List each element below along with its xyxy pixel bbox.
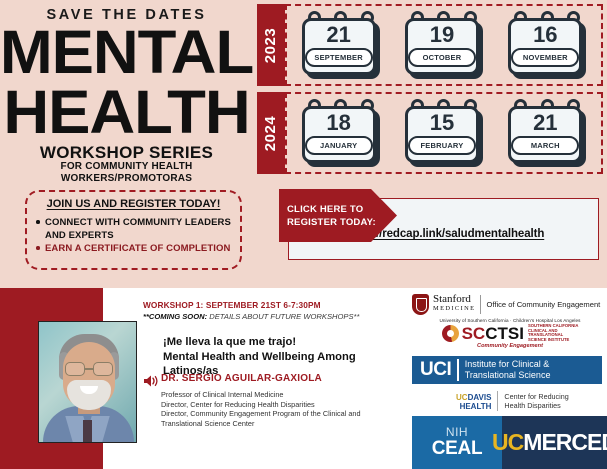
portrait-glasses-lens <box>65 362 85 376</box>
workshop-info-block: WORKSHOP 1: SEPTEMBER 21ST 6-7:30PM **CO… <box>143 300 408 379</box>
coming-soon-note: **COMING SOON: DETAILS ABOUT FUTURE WORK… <box>143 312 408 321</box>
poster-bottom-section: WORKSHOP 1: SEPTEMBER 21ST 6-7:30PM **CO… <box>0 288 607 469</box>
title-line-health: HEALTH <box>0 80 258 144</box>
calendar-day: 21 <box>533 110 557 135</box>
calendar-month: MARCH <box>511 136 579 155</box>
calendar-icon: 21 SEPTEMBER <box>298 9 384 81</box>
join-us-benefit-item: CONNECT WITH COMMUNITY LEADERS AND EXPER… <box>45 216 237 242</box>
logo-uci: UCI Institute for Clinical & Translation… <box>412 356 602 384</box>
calendar-panel: 2023 21 SEPTEMBER <box>253 0 607 180</box>
divider <box>480 295 481 314</box>
bullet-dot-icon <box>36 246 40 250</box>
calendar-icon: 18 JANUARY <box>298 97 384 169</box>
audience-line-2: WORKERS/PROMOTORAS <box>0 173 253 185</box>
workshop-schedule-line: WORKSHOP 1: SEPTEMBER 21ST 6-7:30PM <box>143 300 408 310</box>
join-us-benefit-text: EARN A CERTIFICATE OF COMPLETION <box>45 243 230 254</box>
calendar-month: OCTOBER <box>408 48 476 67</box>
coming-soon-rest: DETAILS ABOUT FUTURE WORKSHOPS** <box>207 312 359 321</box>
join-us-callout-box: JOIN US AND REGISTER TODAY! CONNECT WITH… <box>25 190 242 270</box>
register-area: https://redcap.link/saludmentalhealth CL… <box>253 182 607 288</box>
audience-line-1: FOR COMMUNITY HEALTH <box>0 161 253 173</box>
bullet-dot-icon <box>36 220 40 224</box>
title-line-mental: MENTAL <box>0 20 258 84</box>
scctsi-wordmark: SC CTSI SOUTHERN CALIFORNIA CLINICAL AND… <box>416 324 604 342</box>
calendar-body: 16 NOVEMBER <box>508 18 582 75</box>
ucdavis-uc: UC <box>456 393 468 402</box>
speaker-photo <box>38 321 137 443</box>
stanford-sub: MEDICINE <box>433 304 475 314</box>
year-tab-2024: 2024 <box>257 92 285 174</box>
ucdavis-center-name: Center for Reducing Health Disparities <box>504 392 568 410</box>
ucdavis-health: HEALTH <box>456 402 491 411</box>
calendar-year-row: 2024 18 JANUARY <box>253 92 607 174</box>
scctsi-swirl-icon <box>442 325 459 342</box>
portrait-glasses-bridge <box>85 368 93 370</box>
logo-area: Stanford MEDICINE Office of Community En… <box>408 288 607 469</box>
uci-line-2: Translational Science <box>465 370 551 381</box>
calendar-month: FEBRUARY <box>408 136 476 155</box>
calendar-date-grid: 21 SEPTEMBER 19 OCTOBER <box>289 6 599 84</box>
ceal-wordmark: CEAL <box>432 439 483 459</box>
stanford-name: Stanford <box>433 294 475 304</box>
divider <box>497 391 498 411</box>
ucdavis-davis: DAVIS <box>468 393 492 402</box>
calendar-icon: 15 FEBRUARY <box>401 97 487 169</box>
uci-line-1: Institute for Clinical & <box>465 359 551 370</box>
talk-title-line-1: ¡Me lleva la que me trajo! <box>163 335 408 350</box>
calendar-year-row: 2023 21 SEPTEMBER <box>253 4 607 86</box>
calendar-day: 15 <box>430 110 454 135</box>
join-us-benefit-item: EARN A CERTIFICATE OF COMPLETION <box>45 242 237 255</box>
year-tab-2023: 2023 <box>257 4 285 86</box>
ucmerced-uc: UC <box>492 429 523 456</box>
ucdavis-top-line: UCDAVIS <box>456 391 491 402</box>
calendar-body: 21 SEPTEMBER <box>302 18 376 75</box>
year-label: 2023 <box>263 27 280 62</box>
scctsi-ctsi: CTSI <box>485 325 524 342</box>
year-label: 2024 <box>263 115 280 150</box>
uci-institute-name: Institute for Clinical & Translational S… <box>465 359 551 381</box>
logo-ucmerced: UCMERCED <box>502 416 607 469</box>
calendar-body: 18 JANUARY <box>302 106 376 163</box>
register-cta-line-1: CLICK HERE TO <box>287 203 397 216</box>
divider <box>457 359 459 381</box>
poster-top-section: SAVE THE DATES MENTAL HEALTH WORKSHOP SE… <box>0 0 607 288</box>
calendar-month: SEPTEMBER <box>305 48 373 67</box>
calendar-body: 21 MARCH <box>508 106 582 163</box>
speaker-row: DR. SERGIO AGUILAR-GAXIOLA Professor of … <box>143 373 408 428</box>
ucdavis-line-1: Center for Reducing <box>504 392 568 401</box>
calendar-body: 15 FEBRUARY <box>405 106 479 163</box>
ucmerced-merced: MERCED <box>523 429 607 456</box>
speaker-name: DR. SERGIO AGUILAR-GAXIOLA <box>161 373 408 384</box>
calendar-icon: 21 MARCH <box>504 97 590 169</box>
audience-text: FOR COMMUNITY HEALTH WORKERS/PROMOTORAS <box>0 161 253 184</box>
calendar-body: 19 OCTOBER <box>405 18 479 75</box>
join-us-benefit-text: CONNECT WITH COMMUNITY LEADERS AND EXPER… <box>45 217 231 241</box>
talk-title: ¡Me lleva la que me trajo! Mental Health… <box>163 335 408 379</box>
stanford-shield-icon <box>412 294 429 315</box>
coming-soon-label: **COMING SOON: <box>143 312 207 321</box>
speaker-sound-icon <box>143 373 161 393</box>
speaker-block: DR. SERGIO AGUILAR-GAXIOLA Professor of … <box>161 373 408 428</box>
stanford-office-label: Office of Community Engagement <box>486 300 600 309</box>
calendar-icon: 19 OCTOBER <box>401 9 487 81</box>
register-cta-line-2: REGISTER TODAY: <box>287 216 397 229</box>
logo-scctsi: University of Southern California · Chil… <box>416 318 604 354</box>
stanford-wordmark: Stanford MEDICINE <box>433 294 475 314</box>
speaker-titles: Professor of Clinical Internal Medicine … <box>161 390 408 428</box>
calendar-day: 21 <box>326 22 350 47</box>
join-us-title: JOIN US AND REGISTER TODAY! <box>27 198 240 210</box>
ucdavis-wordmark: UCDAVIS HEALTH <box>456 391 491 411</box>
scctsi-tagline: Community Engagement <box>416 343 604 349</box>
calendar-day: 18 <box>326 110 350 135</box>
portrait-tie <box>83 420 92 442</box>
calendar-day: 19 <box>430 22 454 47</box>
calendar-month: NOVEMBER <box>511 48 579 67</box>
calendar-day: 16 <box>533 22 557 47</box>
subtitle-workshop-series: WORKSHOP SERIES <box>0 143 253 163</box>
calendar-date-grid: 18 JANUARY 15 FEBRUARY <box>289 94 599 172</box>
ucdavis-line-2: Health Disparities <box>504 401 568 410</box>
calendar-month: JANUARY <box>305 136 373 155</box>
logo-nih-ceal: NIH CEAL <box>412 416 502 469</box>
logo-stanford-medicine: Stanford MEDICINE Office of Community En… <box>412 292 604 316</box>
logo-ucdavis-health: UCDAVIS HEALTH Center for Reducing Healt… <box>456 388 604 414</box>
scctsi-sc: SC <box>462 325 486 342</box>
scctsi-institute-name: SOUTHERN CALIFORNIA CLINICAL AND TRANSLA… <box>528 324 578 342</box>
calendar-icon: 16 NOVEMBER <box>504 9 590 81</box>
portrait-glasses-lens <box>93 362 113 376</box>
uci-wordmark: UCI <box>420 359 451 381</box>
